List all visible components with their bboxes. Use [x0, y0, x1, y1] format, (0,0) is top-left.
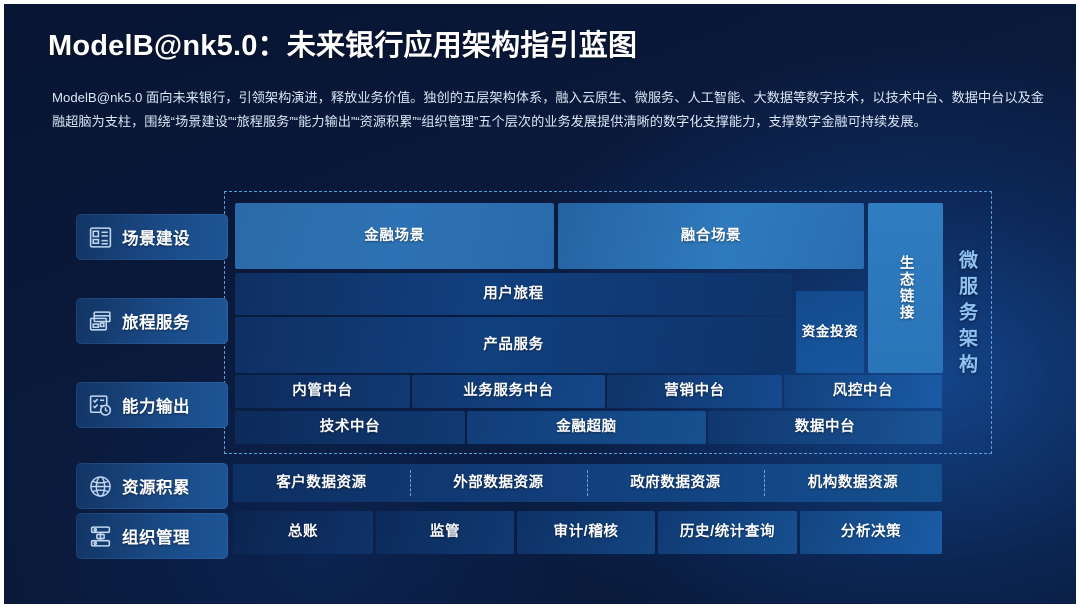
sidebar-item-organization-management[interactable]: 组织管理: [76, 513, 228, 559]
sidebar-item-label: 场景建设: [122, 225, 190, 249]
block-user-journey[interactable]: 用户旅程: [235, 273, 792, 315]
sidebar-item-capability-output[interactable]: 能力输出: [76, 382, 228, 428]
microservice-architecture-label: 微服务架构: [950, 250, 980, 380]
block-risk-control-platform[interactable]: 风控中台: [784, 375, 942, 408]
block-analysis-decision[interactable]: 分析决策: [800, 511, 942, 554]
block-external-data-resource[interactable]: 外部数据资源: [410, 464, 587, 502]
page-title: ModelB@nk5.0：未来银行应用架构指引蓝图: [48, 22, 637, 64]
block-government-data-resource[interactable]: 政府数据资源: [587, 464, 764, 502]
resource-divider: [587, 470, 588, 496]
block-integrated-scene[interactable]: 融合场景: [558, 203, 864, 269]
sidebar-item-resource-accumulation[interactable]: 资源积累: [76, 463, 228, 509]
page-subtitle: ModelB@nk5.0 面向未来银行，引领架构演进，释放业务价值。独创的五层架…: [52, 86, 1044, 134]
resource-divider: [764, 470, 765, 496]
block-customer-data-resource[interactable]: 客户数据资源: [233, 464, 410, 502]
block-business-service-platform[interactable]: 业务服务中台: [412, 375, 605, 408]
block-financial-super-brain[interactable]: 金融超脑: [467, 411, 706, 444]
resource-divider: [410, 470, 411, 496]
globe-icon: [88, 474, 113, 499]
block-financial-scene[interactable]: 金融场景: [235, 203, 554, 269]
checklist-clock-icon: [88, 393, 113, 418]
block-product-service[interactable]: 产品服务: [235, 317, 792, 373]
block-institution-data-resource[interactable]: 机构数据资源: [764, 464, 942, 502]
card-stack-icon: [88, 309, 113, 334]
layout-grid-icon: [88, 225, 113, 250]
block-general-ledger[interactable]: 总账: [233, 511, 373, 554]
sidebar-item-journey-service[interactable]: 旅程服务: [76, 298, 228, 344]
org-tree-icon: [88, 524, 113, 549]
block-internal-mgmt-platform[interactable]: 内管中台: [235, 375, 410, 408]
sidebar-item-label: 资源积累: [122, 474, 190, 498]
sidebar-item-label: 能力输出: [122, 393, 190, 417]
block-regulation[interactable]: 监管: [376, 511, 514, 554]
sidebar-item-label: 旅程服务: [122, 309, 190, 333]
block-history-statistics-query[interactable]: 历史/统计查询: [658, 511, 797, 554]
block-fund-investment[interactable]: 资金投资: [796, 291, 864, 373]
block-marketing-platform[interactable]: 营销中台: [607, 375, 782, 408]
block-data-platform[interactable]: 数据中台: [708, 411, 942, 444]
sidebar-item-scene-building[interactable]: 场景建设: [76, 214, 228, 260]
sidebar-item-label: 组织管理: [122, 524, 190, 548]
block-technology-platform[interactable]: 技术中台: [235, 411, 465, 444]
block-audit-inspection[interactable]: 审计/稽核: [517, 511, 655, 554]
block-ecosystem-link[interactable]: 生态链接: [868, 203, 943, 373]
